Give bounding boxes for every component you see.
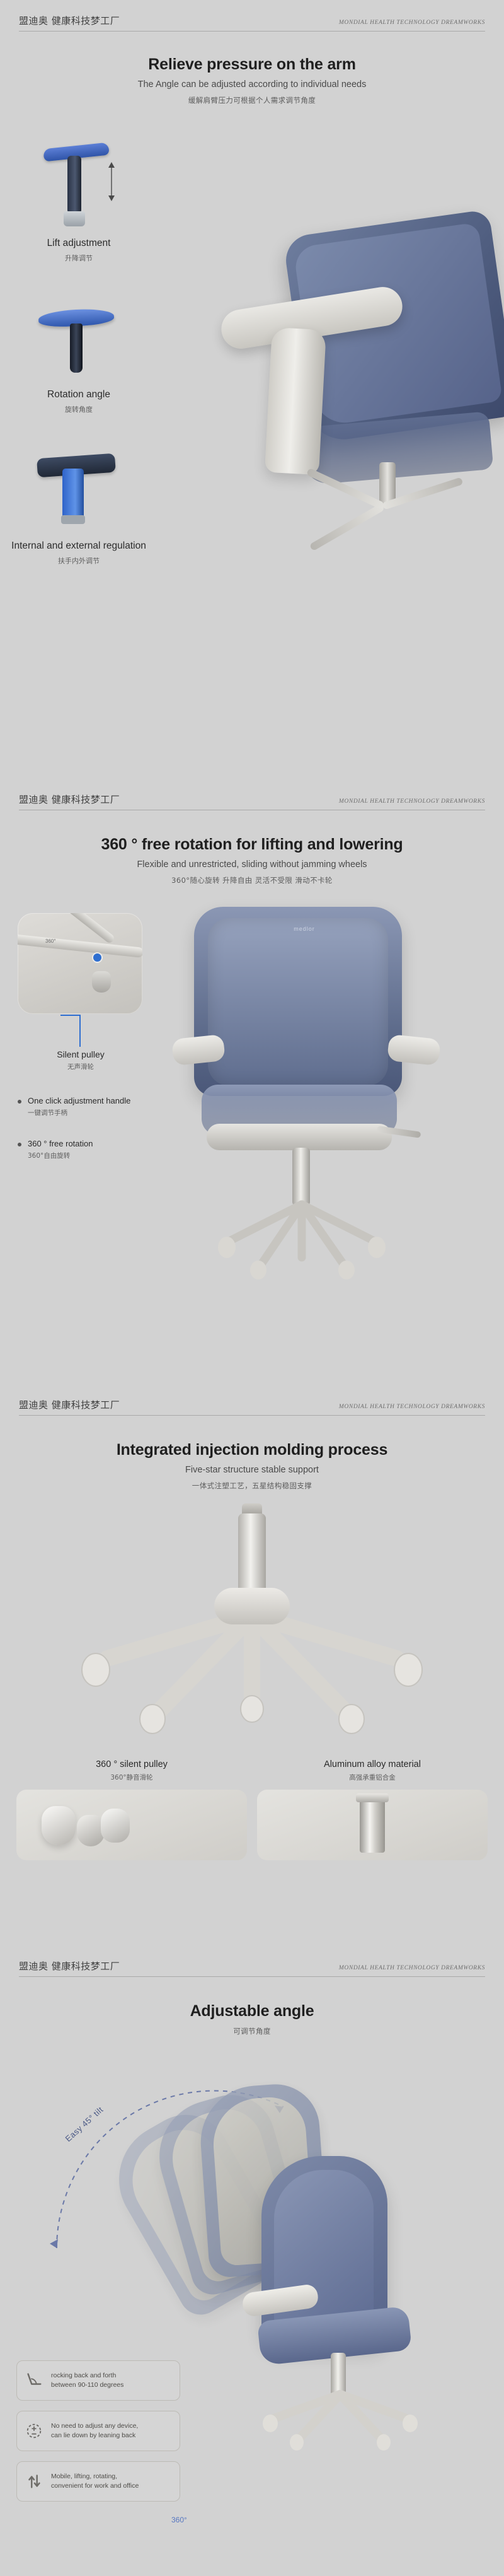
benefit-cards: rocking back and forth between 90-110 de… <box>16 2360 180 2512</box>
callout-label-en: Silent pulley <box>18 1049 144 1059</box>
feature-label-en: Lift adjustment <box>0 238 157 250</box>
armrest-width-illustration <box>28 440 129 534</box>
section-title: Integrated injection molding process <box>0 1441 504 1459</box>
section-free-rotation: 盟迪奥 健康科技梦工厂 MONDIAL HEALTH TECHNOLOGY DR… <box>0 779 504 1384</box>
section-heading-group: Relieve pressure on the arm The Angle ca… <box>0 55 504 105</box>
callout-connector-line <box>79 1015 81 1047</box>
material-cards: 360 ° silent pulley 360°静音滑轮 Aluminum al… <box>0 1759 504 1860</box>
card-line-2: can lie down by leaning back <box>51 2431 138 2440</box>
page-title: Relieve pressure on the arm <box>0 55 504 74</box>
brand-header: 盟迪奥 健康科技梦工厂 MONDIAL HEALTH TECHNOLOGY DR… <box>0 1384 504 1422</box>
section-subtitle-cn: 缓解肩臂压力可根据个人需求调节角度 <box>0 95 504 105</box>
brand-name-cn: 盟迪奥 健康科技梦工厂 <box>19 14 120 27</box>
plus-minus-circle-icon <box>25 2422 43 2440</box>
recline-sequence-photo <box>142 2080 413 2408</box>
section-body: Lift adjustment 升降调节 Rotation angle 旋转角度 <box>0 128 504 759</box>
card-title-cn: 高强承重铝合金 <box>257 1773 488 1782</box>
section-subtitle-cn: 一体式注塑工艺，五星结构稳固支撑 <box>0 1481 504 1491</box>
section-subtitle-en: Flexible and unrestricted, sliding witho… <box>0 860 504 870</box>
feature-lift-adjustment: Lift adjustment 升降调节 <box>0 137 157 263</box>
section-subtitle-cn: 360°随心旋转 升降自由 灵活不受限 滑动不卡轮 <box>0 875 504 885</box>
section-relieve-pressure: 盟迪奥 健康科技梦工厂 MONDIAL HEALTH TECHNOLOGY DR… <box>0 0 504 779</box>
chair-side-photo <box>236 2156 444 2421</box>
brand-tagline-en: MONDIAL HEALTH TECHNOLOGY DREAMWORKS <box>339 798 485 805</box>
bullet-label-cn: 一键调节手柄 <box>16 1108 161 1117</box>
header-divider <box>19 31 485 32</box>
chair-armrest-photo <box>145 223 504 551</box>
brand-header: 盟迪奥 健康科技梦工厂 MONDIAL HEALTH TECHNOLOGY DR… <box>0 0 504 38</box>
section-injection-molding: 盟迪奥 健康科技梦工厂 MONDIAL HEALTH TECHNOLOGY DR… <box>0 1384 504 1945</box>
callout-dot-icon <box>93 953 101 962</box>
silent-pulley-label: Silent pulley 无声滑轮 <box>18 1049 144 1071</box>
up-down-arrows-icon <box>25 2472 43 2491</box>
section-heading-group: 360 ° free rotation for lifting and lowe… <box>0 836 504 885</box>
bullet-label-en: 360 ° free rotation <box>16 1139 161 1148</box>
brand-tagline-en: MONDIAL HEALTH TECHNOLOGY DREAMWORKS <box>339 1404 485 1410</box>
section-title: Adjustable angle <box>0 2002 504 2020</box>
card-silent-pulley: 360 ° silent pulley 360°静音滑轮 <box>16 1759 247 1860</box>
card-line-1: Mobile, lifting, rotating, <box>51 2472 139 2481</box>
bullet-label-cn: 360°自由旋转 <box>16 1151 161 1160</box>
card-image <box>16 1790 247 1860</box>
card-mobile-lifting: Mobile, lifting, rotating, convenient fo… <box>16 2461 180 2502</box>
card-title-en: Aluminum alloy material <box>257 1759 488 1769</box>
armrest-lift-illustration <box>28 137 129 231</box>
callout-label-cn: 无声滑轮 <box>18 1062 144 1071</box>
brand-name-cn: 盟迪奥 健康科技梦工厂 <box>19 793 120 806</box>
feature-label-cn: 升降调节 <box>0 253 157 263</box>
card-title-en: 360 ° silent pulley <box>16 1759 247 1769</box>
card-aluminum-alloy: Aluminum alloy material 高强承重铝合金 <box>257 1759 488 1860</box>
five-star-base-icon <box>255 2388 425 2445</box>
list-item: 360 ° free rotation 360°自由旋转 <box>16 1139 161 1160</box>
five-star-base-photo <box>0 1507 504 1753</box>
section-heading-group: Adjustable angle 可调节角度 <box>0 2002 504 2036</box>
list-item: One click adjustment handle 一键调节手柄 <box>16 1096 161 1117</box>
section-body: Easy 45° tilt <box>0 2049 504 2553</box>
card-line-1: No need to adjust any device, <box>51 2422 138 2431</box>
section-adjustable-angle: 盟迪奥 健康科技梦工厂 MONDIAL HEALTH TECHNOLOGY DR… <box>0 1945 504 2576</box>
lift-arrow-icon <box>28 137 129 231</box>
card-no-adjust-needed: No need to adjust any device, can lie do… <box>16 2411 180 2451</box>
rotation-annotation-label: 360° <box>171 2515 187 2524</box>
brand-name-cn: 盟迪奥 健康科技梦工厂 <box>19 1398 120 1411</box>
card-rocking-range: rocking back and forth between 90-110 de… <box>16 2360 180 2401</box>
header-divider <box>19 1976 485 1977</box>
tilt-annotation-label: Easy 45° tilt <box>64 2105 105 2144</box>
header-divider <box>19 1415 485 1416</box>
bullet-label-en: One click adjustment handle <box>16 1096 161 1105</box>
section-subtitle-cn: 可调节角度 <box>0 2026 504 2036</box>
feature-rotation-angle: Rotation angle 旋转角度 <box>0 288 157 414</box>
card-line-2: convenient for work and office <box>51 2481 139 2491</box>
card-line-2: between 90-110 degrees <box>51 2381 123 2390</box>
brand-header: 盟迪奥 健康科技梦工厂 MONDIAL HEALTH TECHNOLOGY DR… <box>0 779 504 817</box>
section-heading-group: Integrated injection molding process Fiv… <box>0 1441 504 1491</box>
header-divider <box>19 810 485 810</box>
feature-bullet-list: One click adjustment handle 一键调节手柄 360 °… <box>16 1096 161 1182</box>
armrest-rotation-illustration <box>28 288 129 383</box>
product-detail-page: 盟迪奥 健康科技梦工厂 MONDIAL HEALTH TECHNOLOGY DR… <box>0 0 504 2576</box>
chair-brand-logo: medlor <box>294 926 315 932</box>
brand-tagline-en: MONDIAL HEALTH TECHNOLOGY DREAMWORKS <box>339 1965 485 1971</box>
five-star-base-icon <box>204 1197 399 1273</box>
card-image <box>257 1790 488 1860</box>
card-line-1: rocking back and forth <box>51 2371 123 2381</box>
feature-label-en: Rotation angle <box>0 389 157 401</box>
section-subtitle-en: The Angle can be adjusted according to i… <box>0 79 504 90</box>
pulley-degree-badge: 360° <box>45 938 56 944</box>
brand-header: 盟迪奥 健康科技梦工厂 MONDIAL HEALTH TECHNOLOGY DR… <box>0 1945 504 1983</box>
feature-label-en: Internal and external regulation <box>0 540 157 552</box>
silent-pulley-closeup: 360° <box>18 913 142 1014</box>
section-body: 360° Silent pulley 无声滑轮 One click adjust… <box>0 907 504 1323</box>
feature-label-cn: 扶手内外调节 <box>0 556 157 566</box>
chair-recline-icon <box>25 2371 43 2390</box>
brand-tagline-en: MONDIAL HEALTH TECHNOLOGY DREAMWORKS <box>339 20 485 26</box>
card-title-cn: 360°静音滑轮 <box>16 1773 247 1782</box>
section-title: 360 ° free rotation for lifting and lowe… <box>0 836 504 854</box>
feature-internal-external-regulation: Internal and external regulation 扶手内外调节 <box>0 440 157 566</box>
chair-front-photo: medlor <box>169 907 440 1298</box>
section-subtitle-en: Five-star structure stable support <box>0 1465 504 1475</box>
feature-label-cn: 旋转角度 <box>0 404 157 414</box>
brand-name-cn: 盟迪奥 健康科技梦工厂 <box>19 1959 120 1973</box>
feature-list: Lift adjustment 升降调节 Rotation angle 旋转角度 <box>0 137 157 591</box>
